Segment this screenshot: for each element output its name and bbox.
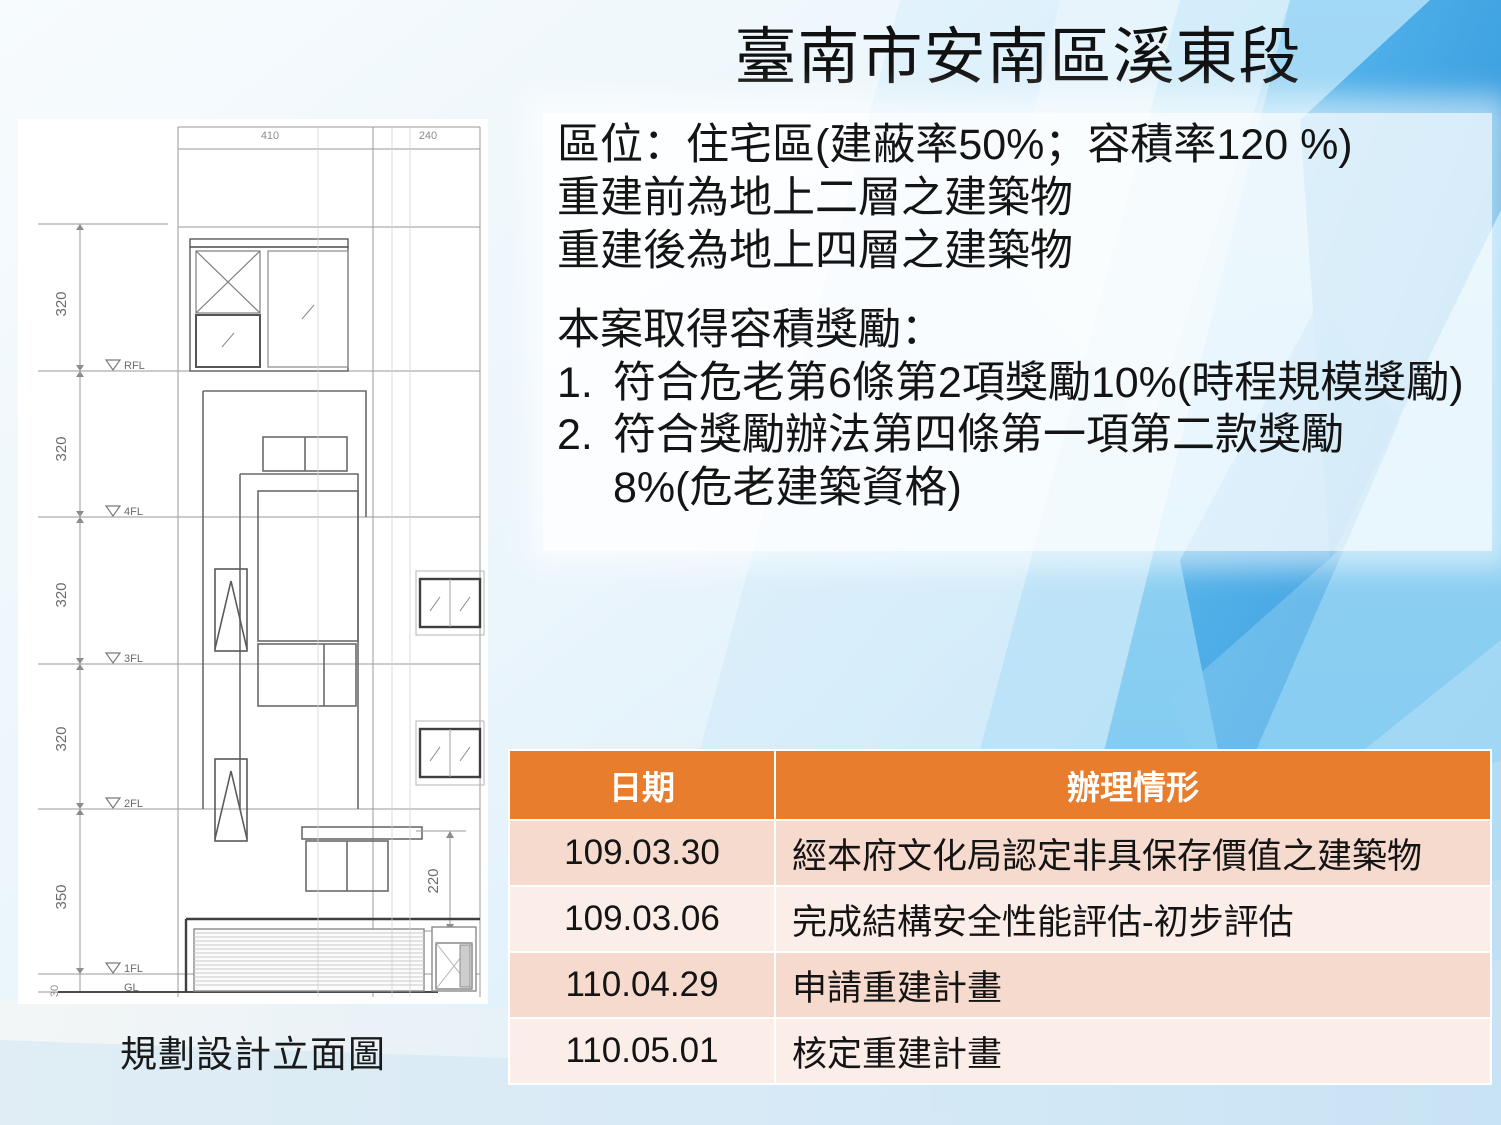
top-dim-410: 410: [261, 130, 279, 142]
table-cell-date: 109.03.06: [509, 886, 775, 952]
progress-table: 日期 辦理情形 109.03.30 經本府文化局認定非具保存價值之建築物 109…: [508, 749, 1492, 1085]
table-row: 110.05.01 核定重建計畫: [509, 1018, 1491, 1084]
table-header-date: 日期: [509, 750, 775, 820]
incentive-item-2-continuation: 8%(危老建築資格): [557, 462, 1492, 515]
incentive-item-2-text: 符合獎勵辦法第四條第一項第二款獎勵: [613, 409, 1344, 462]
side-dim-5: 350: [53, 884, 70, 909]
info-line-incentive-heading: 本案取得容積獎勵：: [557, 304, 1492, 357]
side-dim-2: 320: [53, 436, 70, 461]
incentive-item-1: 1. 符合危老第6條第2項獎勵10%(時程規模獎勵): [557, 357, 1492, 410]
entrance-door: [432, 927, 476, 991]
top-dim-240: 240: [419, 130, 437, 142]
table-cell-status: 申請重建計畫: [775, 952, 1491, 1018]
side-dim-4: 320: [53, 726, 70, 751]
page-title: 臺南市安南區溪東段: [545, 22, 1491, 93]
inner-dim-220: 220: [425, 868, 442, 893]
table-row: 109.03.06 完成結構安全性能評估-初步評估: [509, 886, 1491, 952]
info-panel: 區位：住宅區(建蔽率50%；容積率120 %) 重建前為地上二層之建築物 重建後…: [543, 113, 1492, 551]
table-cell-status: 完成結構安全性能評估-初步評估: [775, 886, 1491, 952]
incentive-item-2: 2. 符合獎勵辦法第四條第一項第二款獎勵: [557, 409, 1492, 462]
table-cell-status: 經本府文化局認定非具保存價值之建築物: [775, 820, 1491, 886]
table-cell-date: 110.04.29: [509, 952, 775, 1018]
table-cell-date: 110.05.01: [509, 1018, 775, 1084]
level-3fl: 3FL: [124, 653, 143, 665]
level-gl: GL: [124, 982, 139, 994]
info-line-before: 重建前為地上二層之建築物: [557, 172, 1492, 225]
table-cell-date: 109.03.30: [509, 820, 775, 886]
info-spacer: [557, 278, 1492, 304]
info-line-zoning: 區位：住宅區(建蔽率50%；容積率120 %): [557, 119, 1492, 172]
incentive-item-1-text: 符合危老第6條第2項獎勵10%(時程規模獎勵): [613, 357, 1464, 410]
table-row: 110.04.29 申請重建計畫: [509, 952, 1491, 1018]
level-2fl: 2FL: [124, 798, 143, 810]
elevation-drawing: 410 240 320 320 320 32: [18, 119, 488, 1004]
table-header-status: 辦理情形: [775, 750, 1491, 820]
level-rfl: RFL: [124, 360, 145, 372]
table-row: 109.03.30 經本府文化局認定非具保存價值之建築物: [509, 820, 1491, 886]
incentive-item-2-number: 2.: [557, 409, 613, 462]
incentive-item-1-number: 1.: [557, 357, 613, 410]
side-dim-1: 320: [53, 291, 70, 316]
level-1fl: 1FL: [124, 963, 143, 975]
side-dim-3: 320: [53, 582, 70, 607]
level-4fl: 4FL: [124, 506, 143, 518]
drawing-caption: 規劃設計立面圖: [18, 1024, 488, 1078]
table-header-row: 日期 辦理情形: [509, 750, 1491, 820]
table-cell-status: 核定重建計畫: [775, 1018, 1491, 1084]
info-line-after: 重建後為地上四層之建築物: [557, 225, 1492, 278]
garage-shutter: [194, 929, 424, 991]
